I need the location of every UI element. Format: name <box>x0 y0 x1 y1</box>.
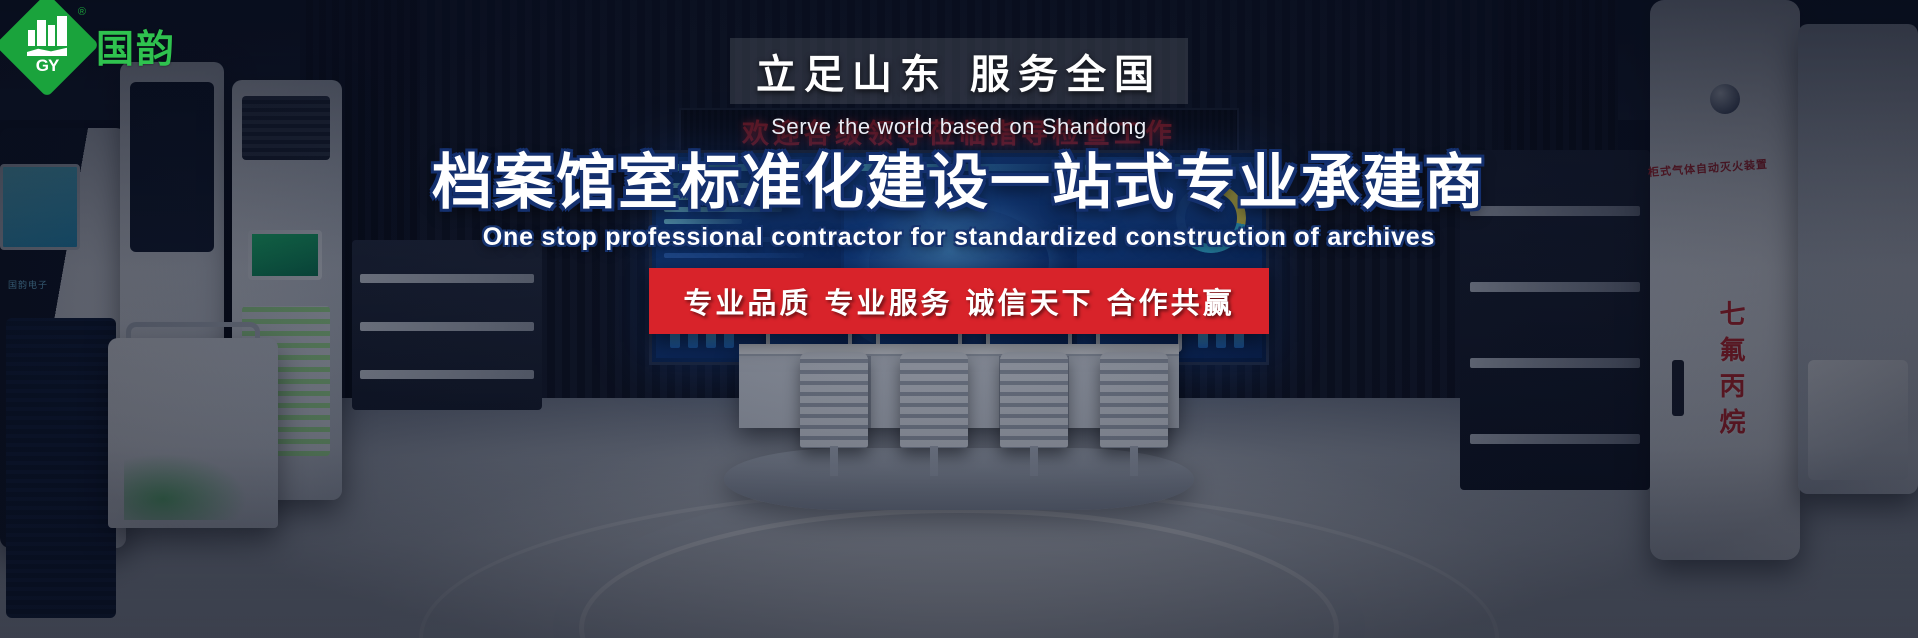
hero-banner: 欢迎各级领导莅临指导检查工作 <box>0 0 1918 638</box>
headline-cn: 档案馆室标准化建设一站式专业承建商 <box>0 152 1918 215</box>
tagline-en: Serve the world based on Shandong <box>0 114 1918 140</box>
office-chair-3 <box>1000 352 1068 448</box>
slogan-banner-text: 专业品质 专业服务 诚信天下 合作共赢 <box>683 286 1234 320</box>
cabinet-panel <box>1808 360 1908 480</box>
office-chair-2 <box>900 352 968 448</box>
shelf-board <box>360 370 534 379</box>
hero-copy: 立足山东 服务全国 Serve the world based on Shand… <box>0 0 1918 334</box>
slogan-banner[interactable]: 专业品质 专业服务 诚信天下 合作共赢 <box>649 268 1268 334</box>
office-chair-4 <box>1100 352 1168 448</box>
device-vent-grille <box>6 318 116 618</box>
cabinet-latch <box>1672 360 1684 416</box>
tagline-cn: 立足山东 服务全国 <box>756 42 1162 100</box>
office-chair-1 <box>800 352 868 448</box>
tagline-container: 立足山东 服务全国 <box>730 38 1188 104</box>
shelf-board <box>1470 434 1640 444</box>
floor-dais <box>724 448 1194 510</box>
eco-leaf-graphic <box>124 450 254 520</box>
mobile-disinfection-unit <box>108 338 278 528</box>
headline-en: One stop professional contractor for sta… <box>0 223 1918 252</box>
shelf-board <box>1470 358 1640 368</box>
